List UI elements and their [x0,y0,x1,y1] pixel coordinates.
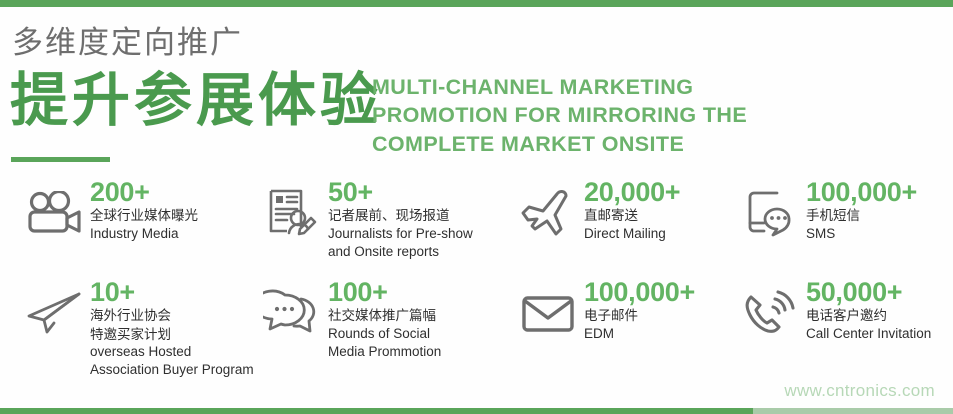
stat-number: 100+ [328,278,504,306]
watermark: www.cntronics.com [784,381,935,401]
document-reporter-icon [256,180,328,246]
stat-number: 10+ [90,278,248,306]
stat-item-social-media: 100+ 社交媒体推广篇幅 Rounds of Social Media Pro… [248,276,504,382]
stat-zh-line-1: 社交媒体推广篇幅 [328,307,504,325]
stat-en-line-1: overseas Hosted [90,343,248,361]
bottom-green-bar [0,408,953,414]
bottom-bar-fade-segment [753,408,953,414]
header: 多维度定向推广 提升参展体验 MULTI-CHANNEL MARKETING P… [0,7,953,172]
stats-row-1: 200+ 全球行业媒体曝光 Industry Media [0,176,953,276]
stat-en-line-1: Rounds of Social [328,325,504,343]
stat-en-line-1: Direct Mailing [584,225,726,243]
stat-zh-line-1: 手机短信 [806,207,953,225]
stat-zh-line-1: 全球行业媒体曝光 [90,207,248,225]
stat-zh-line-1: 直邮寄送 [584,207,726,225]
stat-item-industry-media: 200+ 全球行业媒体曝光 Industry Media [0,176,248,276]
stat-en-line-2: and Onsite reports [328,243,504,261]
stat-text: 100,000+ 电子邮件 EDM [584,276,726,343]
subtitle-line-1: MULTI-CHANNEL MARKETING [372,73,772,101]
top-green-bar [0,0,953,7]
title-underline-rule [11,157,110,162]
envelope-icon [512,280,584,346]
stat-text: 50+ 记者展前、现场报道 Journalists for Pre-show a… [328,176,504,261]
stat-en-line-1: Industry Media [90,225,248,243]
airplane-icon [512,180,584,246]
marketing-poster: 多维度定向推广 提升参展体验 MULTI-CHANNEL MARKETING P… [0,0,953,414]
stat-item-sms: 100,000+ 手机短信 SMS [726,176,953,276]
stat-zh-line-1: 海外行业协会 [90,307,248,325]
subtitle-line-2: PROMOTION FOR MIRRORING THE [372,101,772,129]
stat-item-direct-mailing: 20,000+ 直邮寄送 Direct Mailing [504,176,726,276]
stat-item-journalists: 50+ 记者展前、现场报道 Journalists for Pre-show a… [248,176,504,276]
stat-text: 20,000+ 直邮寄送 Direct Mailing [584,176,726,243]
stat-text: 10+ 海外行业协会 特邀买家计划 overseas Hosted Associ… [90,276,248,379]
stat-zh-line-1: 电话客户邀约 [806,307,953,325]
stat-number: 50,000+ [806,278,953,306]
stat-zh-line-2: 特邀买家计划 [90,326,248,344]
page-title: 提升参展体验 [10,72,382,130]
stat-item-edm: 100,000+ 电子邮件 EDM [504,276,726,382]
stat-zh-line-1: 记者展前、现场报道 [328,207,504,225]
stat-number: 100,000+ [806,178,953,206]
phone-call-icon [734,280,806,346]
stat-text: 100,000+ 手机短信 SMS [806,176,953,243]
stat-en-line-1: Call Center Invitation [806,325,953,343]
stat-text: 50,000+ 电话客户邀约 Call Center Invitation [806,276,953,343]
stat-number: 20,000+ [584,178,726,206]
stats-grid: 200+ 全球行业媒体曝光 Industry Media [0,176,953,382]
kicker-text: 多维度定向推广 [12,27,243,58]
stat-en-line-2: Association Buyer Program [90,361,248,379]
stat-text: 100+ 社交媒体推广篇幅 Rounds of Social Media Pro… [328,276,504,361]
stat-number: 200+ [90,178,248,206]
stat-number: 100,000+ [584,278,726,306]
stats-row-2: 10+ 海外行业协会 特邀买家计划 overseas Hosted Associ… [0,276,953,382]
stat-zh-line-1: 电子邮件 [584,307,726,325]
stat-en-line-1: Journalists for Pre-show [328,225,504,243]
subtitle-line-3: COMPLETE MARKET ONSITE [372,130,772,158]
subtitle-english: MULTI-CHANNEL MARKETING PROMOTION FOR MI… [372,73,772,158]
stat-en-line-2: Media Prommotion [328,343,504,361]
phone-sms-icon [734,180,806,246]
paper-plane-icon [18,280,90,346]
stat-en-line-1: EDM [584,325,726,343]
stat-text: 200+ 全球行业媒体曝光 Industry Media [90,176,248,243]
stat-number: 50+ [328,178,504,206]
stat-item-call-center: 50,000+ 电话客户邀约 Call Center Invitation [726,276,953,382]
stat-item-hosted-buyer: 10+ 海外行业协会 特邀买家计划 overseas Hosted Associ… [0,276,248,382]
stat-en-line-1: SMS [806,225,953,243]
speech-bubbles-icon [256,280,328,346]
video-camera-icon [18,180,90,246]
